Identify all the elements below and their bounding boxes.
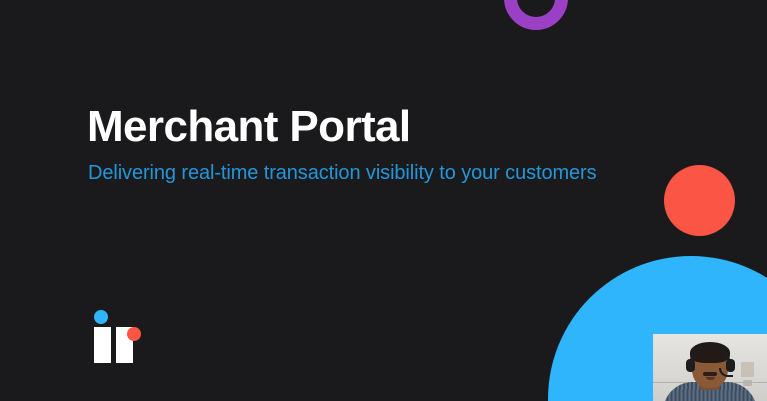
screen-share-slide: Merchant Portal Delivering real-time tra…: [0, 0, 767, 401]
participant-video-tile[interactable]: [653, 334, 767, 401]
slide-title: Merchant Portal: [87, 99, 411, 155]
logo-blue-dot-icon: [94, 310, 108, 324]
participant-moustache: [703, 372, 717, 376]
headset-left-earcup-icon: [686, 359, 695, 372]
purple-ring-decoration: [504, 0, 568, 30]
logo-left-bar-icon: [94, 327, 111, 363]
video-wall-panel: [741, 362, 754, 377]
red-circle-decoration: [664, 165, 735, 236]
video-wall-panel-secondary: [743, 380, 752, 386]
slide-subtitle: Delivering real-time transaction visibil…: [88, 160, 597, 186]
brand-logo: [88, 308, 146, 366]
logo-red-dot-icon: [127, 327, 141, 341]
